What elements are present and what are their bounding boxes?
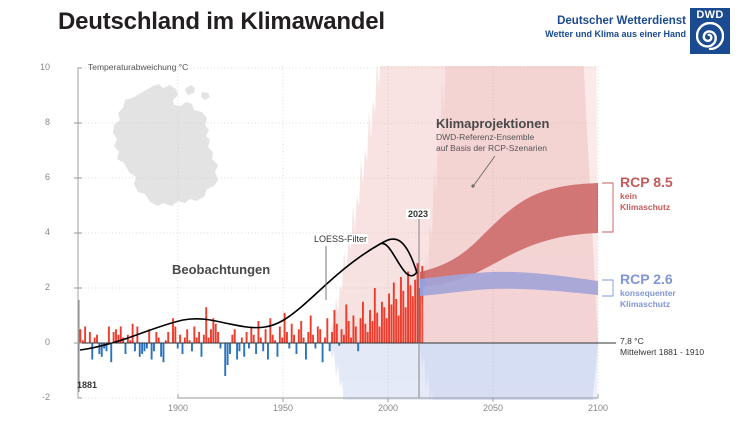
observation-bar [79,329,81,343]
observation-bar [417,263,419,343]
observation-bar [284,313,286,343]
observation-bar [350,338,352,344]
observation-bar [326,318,328,343]
observation-bar [341,329,343,343]
observation-bar [212,318,214,343]
observation-bar [201,343,203,357]
observation-bar [298,329,300,343]
rcp26-sub2: Klimaschutz [620,299,676,310]
y-tick-2: 2 [26,282,50,292]
y-tick-4: 4 [26,227,50,237]
observation-bar [333,310,335,343]
observation-bar [174,327,176,344]
observation-bar [84,327,86,344]
observation-bar [286,332,288,343]
observation-bar [409,285,411,343]
observation-bar [331,332,333,343]
observation-bar [113,332,115,343]
mean-reference-label: 7,8 °C Mittelwert 1881 - 1910 [620,336,704,358]
observation-bar [158,338,160,344]
observation-bar [376,313,378,343]
rcp26-legend: RCP 2.6 konsequenter Klimaschutz [620,271,676,309]
observation-bar [296,343,298,354]
observation-bar [198,332,200,343]
observation-bar [414,280,416,343]
observation-bar [125,343,127,354]
observation-bar [400,277,402,343]
x-tick-2100: 2100 [573,403,623,413]
observation-bar [267,343,269,360]
observation-bar [348,321,350,343]
y-tick-minus2: -2 [26,392,50,402]
observation-bar [367,332,369,343]
observation-bar [291,324,293,343]
observation-bar [227,343,229,365]
x-tick-1900: 1900 [153,403,203,413]
observation-bar [319,329,321,343]
observation-bar [210,329,212,343]
observation-bar [155,332,157,343]
observation-bar [381,302,383,343]
observation-bar [215,324,217,343]
observation-bar [336,324,338,343]
observation-bar [177,343,179,349]
observation-bar [393,283,395,344]
projection-annotation: Klimaprojektionen DWD-Referenz-Ensemble … [436,116,549,154]
rcp85-title: RCP 8.5 [620,174,673,191]
observation-bar [231,335,233,343]
rcp26-title: RCP 2.6 [620,271,676,288]
observation-bar [405,307,407,343]
observation-bar [255,343,257,354]
observation-bar [260,338,262,344]
observation-bar [360,318,362,343]
observation-bar [279,327,281,344]
observation-bar [288,343,290,349]
observation-bar [379,327,381,344]
observation-bar [151,343,153,360]
observation-bar [324,338,326,344]
observation-bar [250,327,252,344]
germany-map-silhouette [113,84,218,206]
y-tick-8: 8 [26,117,50,127]
observation-bar [184,338,186,344]
observation-bar [329,343,331,351]
y-tick-0: 0 [26,337,50,347]
climate-infographic: Deutschland im Klimawandel Deutscher Wet… [0,0,748,421]
observation-bar [395,299,397,343]
rcp26-bracket [602,280,613,296]
observation-bar [248,343,250,349]
observation-bar [310,316,312,344]
observation-bar [272,335,274,343]
observation-bar [293,335,295,343]
observation-bar [241,338,243,344]
observation-bar [388,294,390,344]
label-loess-filter: LOESS-Filter [313,234,368,244]
x-tick-1950: 1950 [258,403,308,413]
ensemble-spread-projections [420,0,598,421]
observation-bar [317,327,319,344]
observation-bar [160,343,162,357]
observation-bar [163,343,165,362]
observation-bar [236,343,238,360]
observation-bar [303,338,305,344]
observation-bar [258,321,260,343]
label-1881: 1881 [77,380,97,390]
observation-bar [146,343,148,349]
observation-bar [144,343,146,351]
observation-bar [229,343,231,354]
observation-bar [262,343,264,351]
projection-sub2: auf Basis der RCP-Szenarien [436,143,549,154]
projection-leader-dot [471,184,474,187]
observation-bar [96,335,98,343]
observation-bar [220,343,222,349]
observation-bar [191,343,193,351]
mean-value: 7,8 °C [620,336,704,347]
observation-bar [371,321,373,343]
observation-bar [234,329,236,343]
mean-period: Mittelwert 1881 - 1910 [620,347,704,358]
observation-bar [141,343,143,354]
projection-title: Klimaprojektionen [436,116,549,132]
observation-bar [343,335,345,343]
observation-bar [98,343,100,354]
observation-bar [196,338,198,344]
observation-bar [402,291,404,343]
rcp26-sub1: konsequenter [620,288,676,299]
observation-bar [91,343,93,360]
rcp85-bracket [602,183,613,232]
observation-bar [193,327,195,344]
projection-sub1: DWD-Referenz-Ensemble [436,132,549,143]
observation-bar [89,332,91,343]
observation-bar [186,329,188,343]
observation-bar [179,335,181,343]
observation-bar [357,343,359,351]
observation-bar [322,343,324,362]
observation-bar [369,310,371,343]
observation-bar [300,321,302,343]
y-tick-6: 6 [26,172,50,182]
observation-bar [355,327,357,344]
x-tick-2000: 2000 [363,403,413,413]
observation-bar [94,338,96,344]
observation-bar [277,343,279,357]
observation-bar [281,338,283,344]
y-tick-10: 10 [26,62,50,72]
label-2023: 2023 [406,209,430,219]
observation-bar [217,332,219,343]
observation-bar [182,343,184,354]
observation-bar [307,332,309,343]
observation-bar [108,327,110,344]
observation-bar [205,307,207,343]
observation-bar [390,305,392,344]
observation-bar [269,318,271,343]
observation-bar [312,335,314,343]
rcp85-sub2: Klimaschutz [620,202,673,213]
observation-bar [383,307,385,343]
x-tick-2050: 2050 [468,403,518,413]
observation-bar [374,288,376,343]
observation-bar [243,343,245,357]
rcp85-legend: RCP 8.5 kein Klimaschutz [620,174,673,212]
observation-bar [265,329,267,343]
observation-bar [208,338,210,344]
observation-bar [224,343,226,376]
rcp85-sub1: kein [620,191,673,202]
observation-bar [305,343,307,360]
observation-bar [407,272,409,344]
observation-bar [386,318,388,343]
observation-bar [345,305,347,344]
observation-bar [139,343,141,357]
observation-bar [314,343,316,349]
observation-bar [167,332,169,343]
observation-bar [153,343,155,351]
observation-bar [364,324,366,343]
y-axis [74,68,82,398]
observation-bar [352,316,354,344]
y-axis-label: Temperaturabweichung °C [88,62,188,72]
observation-bar [110,343,112,362]
label-observations: Beobachtungen [172,262,270,277]
observation-bar [203,335,205,343]
observation-bar [239,343,241,351]
observation-bar [134,343,136,351]
observation-bar [132,324,134,343]
observation-bar [246,332,248,343]
observation-bar [362,302,364,343]
observation-bar [398,316,400,344]
observation-bar [412,296,414,343]
observation-bar [253,335,255,343]
